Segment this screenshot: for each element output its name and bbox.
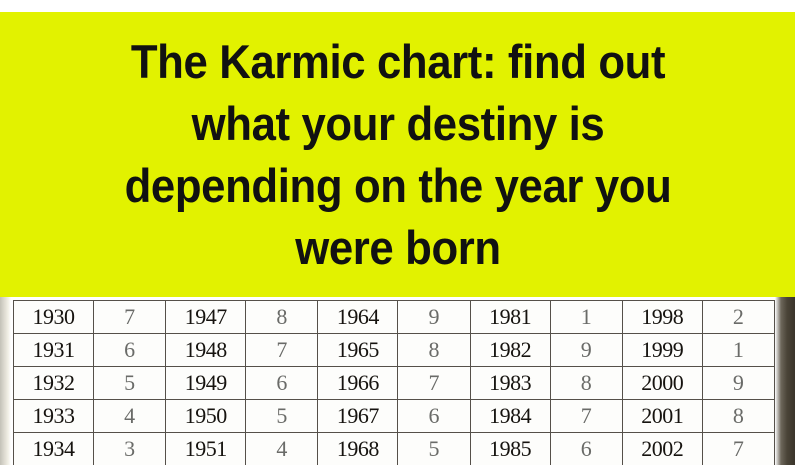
table-cell-year: 1950 <box>166 400 246 433</box>
table-cell-year: 2000 <box>622 367 702 400</box>
table-cell-year: 1998 <box>622 301 702 334</box>
headline-banner: The Karmic chart: find out what your des… <box>0 12 795 297</box>
karmic-table-area: 1930719478196491981119982193161948719658… <box>0 297 795 465</box>
table-row: 1934319514196851985620027 <box>14 433 775 465</box>
table-cell-year: 1984 <box>470 400 550 433</box>
table-cell-number: 4 <box>94 400 166 433</box>
table-row: 1931619487196581982919991 <box>14 334 775 367</box>
table-cell-number: 5 <box>246 400 318 433</box>
table-cell-number: 8 <box>398 334 470 367</box>
table-cell-year: 1947 <box>166 301 246 334</box>
table-cell-number: 8 <box>550 367 622 400</box>
spreadsheet-left-gutter <box>0 297 11 465</box>
table-row: 1933419505196761984720018 <box>14 400 775 433</box>
table-cell-year: 2002 <box>622 433 702 465</box>
table-cell-number: 6 <box>398 400 470 433</box>
karmic-chart-image: The Karmic chart: find out what your des… <box>0 0 795 465</box>
table-cell-year: 1983 <box>470 367 550 400</box>
table-cell-year: 1964 <box>318 301 398 334</box>
table-cell-number: 7 <box>550 400 622 433</box>
table-cell-number: 5 <box>398 433 470 465</box>
table-cell-year: 1965 <box>318 334 398 367</box>
table-cell-number: 7 <box>246 334 318 367</box>
table-cell-number: 6 <box>94 334 166 367</box>
table-cell-number: 6 <box>550 433 622 465</box>
table-cell-year: 2001 <box>622 400 702 433</box>
page-title: The Karmic chart: find out what your des… <box>53 31 741 279</box>
table-cell-number: 3 <box>94 433 166 465</box>
table-cell-number: 7 <box>398 367 470 400</box>
table-row: 1932519496196671983820009 <box>14 367 775 400</box>
table-cell-number: 8 <box>702 400 774 433</box>
table-cell-year: 1999 <box>622 334 702 367</box>
table-cell-year: 1949 <box>166 367 246 400</box>
table-cell-year: 1948 <box>166 334 246 367</box>
table-cell-year: 1968 <box>318 433 398 465</box>
table-cell-year: 1930 <box>14 301 94 334</box>
table-cell-year: 1951 <box>166 433 246 465</box>
table-cell-number: 9 <box>550 334 622 367</box>
table-cell-year: 1981 <box>470 301 550 334</box>
table-cell-number: 8 <box>246 301 318 334</box>
karmic-table-body: 1930719478196491981119982193161948719658… <box>14 301 775 465</box>
table-cell-number: 2 <box>702 301 774 334</box>
table-cell-number: 6 <box>246 367 318 400</box>
table-right-border-strip <box>775 297 795 465</box>
table-cell-number: 5 <box>94 367 166 400</box>
table-cell-year: 1932 <box>14 367 94 400</box>
table-cell-year: 1985 <box>470 433 550 465</box>
table-cell-year: 1982 <box>470 334 550 367</box>
table-cell-number: 7 <box>702 433 774 465</box>
table-cell-number: 7 <box>94 301 166 334</box>
table-cell-year: 1933 <box>14 400 94 433</box>
table-cell-year: 1934 <box>14 433 94 465</box>
title-line-2: what your destiny is <box>53 93 741 155</box>
table-cell-number: 9 <box>398 301 470 334</box>
table-cell-year: 1967 <box>318 400 398 433</box>
table-cell-year: 1966 <box>318 367 398 400</box>
table-cell-number: 4 <box>246 433 318 465</box>
title-line-3: depending on the year you <box>53 155 741 217</box>
table-cell-number: 9 <box>702 367 774 400</box>
table-cell-number: 1 <box>550 301 622 334</box>
top-white-strip <box>0 0 795 12</box>
table-cell-number: 1 <box>702 334 774 367</box>
table-row: 1930719478196491981119982 <box>14 301 775 334</box>
title-line-4: were born <box>53 217 741 279</box>
karmic-year-number-table: 1930719478196491981119982193161948719658… <box>13 300 775 465</box>
table-cell-year: 1931 <box>14 334 94 367</box>
title-line-1: The Karmic chart: find out <box>53 31 741 93</box>
